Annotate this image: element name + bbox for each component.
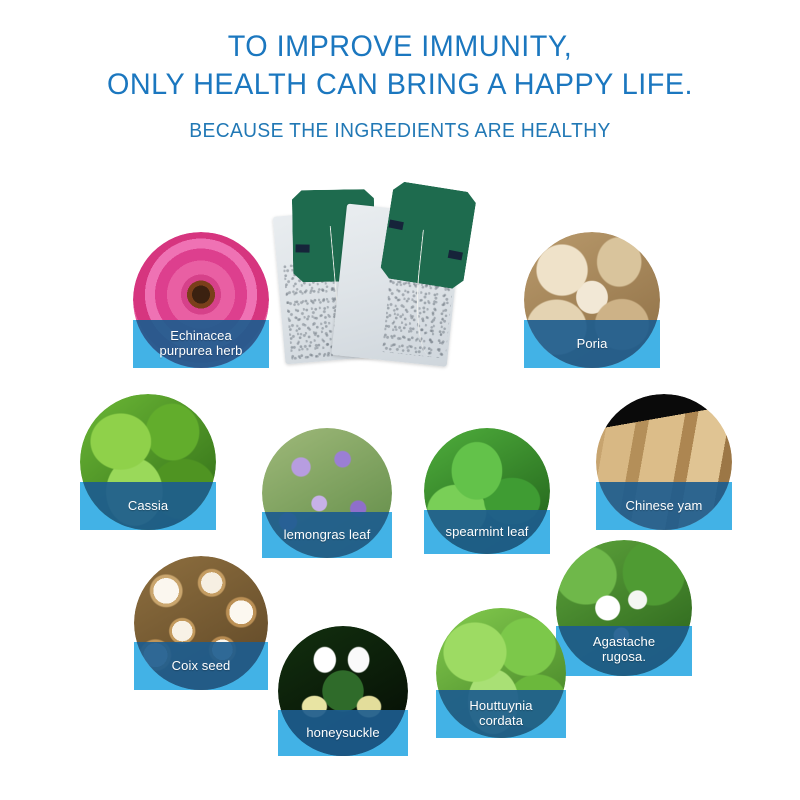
ingredient-chinese-yam-caption: Chinese yam: [596, 498, 732, 513]
ingredient-echinacea-caption: Echinacea purpurea herb: [133, 328, 269, 358]
headline-subtitle: BECAUSE THE INGREDIENTS ARE HEALTHY: [16, 114, 784, 148]
headline-line-2: ONLY HEALTH CAN BRING A HAPPY LIFE.: [16, 66, 784, 104]
ingredient-honeysuckle[interactable]: honeysuckle: [278, 626, 408, 756]
poster-heading: TO IMPROVE IMMUNITY, ONLY HEALTH CAN BRI…: [0, 0, 800, 148]
ingredient-agastache-caption-line1: Agastache: [556, 634, 692, 649]
ingredient-coix-seed-caption-line1: Coix seed: [134, 658, 268, 673]
ingredient-houttuynia-caption-line2: cordata: [436, 713, 566, 728]
tea-bags-image: [278, 180, 478, 370]
ingredient-echinacea[interactable]: Echinacea purpurea herb: [133, 232, 269, 368]
poster-canvas: TO IMPROVE IMMUNITY, ONLY HEALTH CAN BRI…: [0, 0, 800, 800]
ingredient-lemongras-caption: lemongras leaf: [262, 527, 392, 542]
ingredient-poria-caption-line1: Poria: [524, 336, 660, 351]
ingredient-spearmint-caption-line1: spearmint leaf: [424, 524, 550, 539]
ingredient-agastache-caption-line2: rugosa.: [556, 649, 692, 664]
ingredient-cassia-caption-line1: Cassia: [80, 498, 216, 513]
ingredient-chinese-yam-caption-line1: Chinese yam: [596, 498, 732, 513]
ingredient-lemongras-caption-line1: lemongras leaf: [262, 527, 392, 542]
ingredient-houttuynia-caption-line1: Houttuynia: [436, 698, 566, 713]
ingredient-coix-seed-caption: Coix seed: [134, 658, 268, 673]
ingredient-poria-caption: Poria: [524, 336, 660, 351]
ingredient-honeysuckle-caption: honeysuckle: [278, 725, 408, 740]
ingredient-echinacea-caption-line1: Echinacea: [133, 328, 269, 343]
ingredient-coix-seed[interactable]: Coix seed: [134, 556, 268, 690]
ingredient-houttuynia[interactable]: Houttuynia cordata: [436, 608, 566, 738]
ingredient-houttuynia-caption: Houttuynia cordata: [436, 698, 566, 728]
ingredient-agastache-caption: Agastache rugosa.: [556, 634, 692, 664]
headline-line-1: TO IMPROVE IMMUNITY,: [16, 28, 784, 66]
tea-bag-right: [331, 178, 479, 373]
ingredient-honeysuckle-caption-line1: honeysuckle: [278, 725, 408, 740]
ingredient-echinacea-caption-line2: purpurea herb: [133, 343, 269, 358]
tea-bag-left-staple-a: [296, 244, 310, 252]
ingredient-agastache[interactable]: Agastache rugosa.: [556, 540, 692, 676]
ingredient-spearmint-caption: spearmint leaf: [424, 524, 550, 539]
ingredient-lemongras[interactable]: lemongras leaf: [262, 428, 392, 558]
ingredient-cassia-caption: Cassia: [80, 498, 216, 513]
ingredient-chinese-yam[interactable]: Chinese yam: [596, 394, 732, 530]
ingredient-cassia[interactable]: Cassia: [80, 394, 216, 530]
ingredient-spearmint[interactable]: spearmint leaf: [424, 428, 550, 554]
ingredient-poria[interactable]: Poria: [524, 232, 660, 368]
